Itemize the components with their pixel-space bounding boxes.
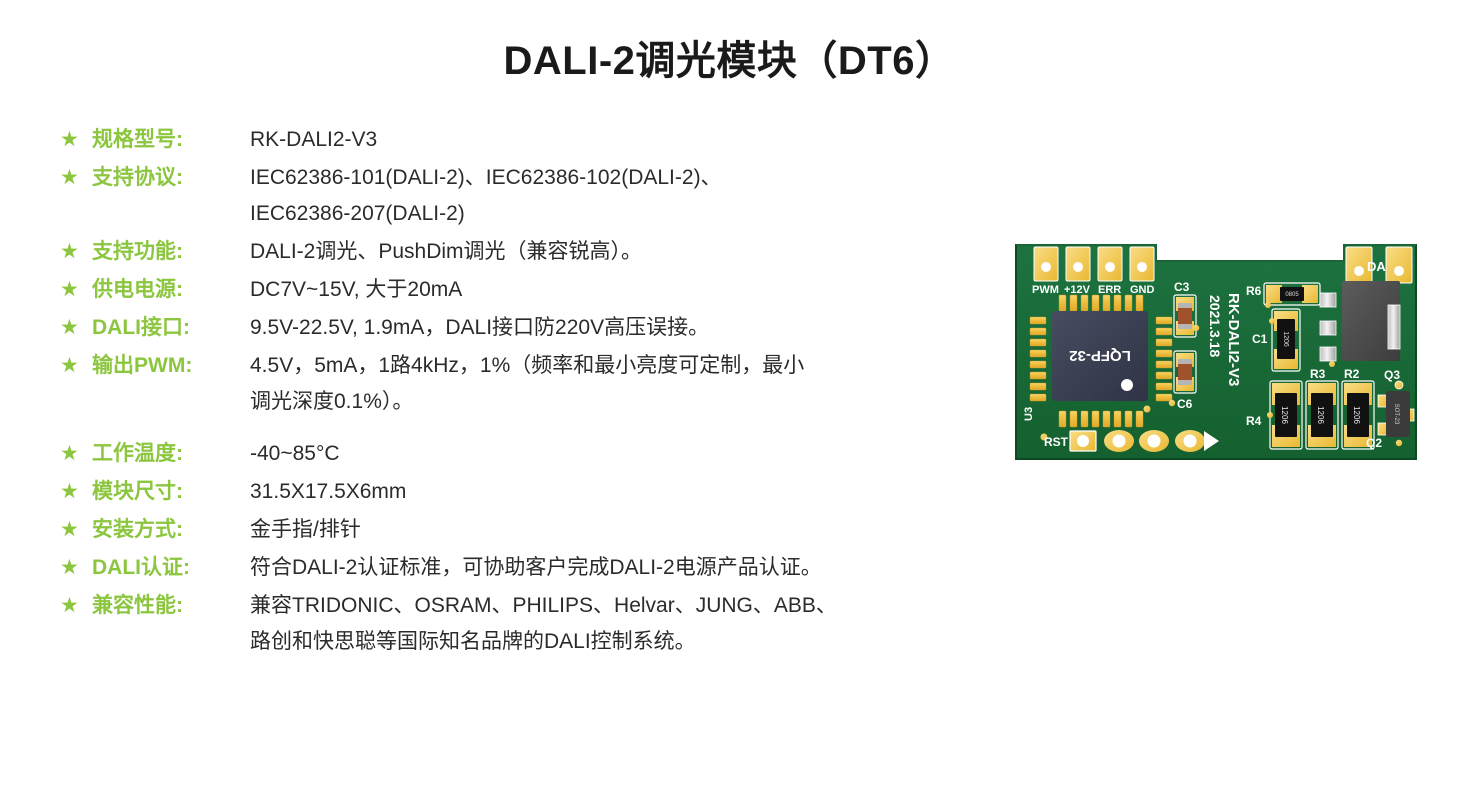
spec-value-protocol: IEC62386-101(DALI-2)、IEC62386-102(DALI-2…: [242, 160, 988, 232]
spec-row-protocol: ★ 支持协议: IEC62386-101(DALI-2)、IEC62386-10…: [58, 160, 988, 232]
pcb-res-code-r6: 0805: [1285, 292, 1299, 298]
spec-line: 31.5X17.5X6mm: [250, 474, 988, 510]
spec-label-mounting: 安装方式:: [92, 512, 242, 548]
spec-value-temperature: -40~85°C: [242, 436, 988, 472]
page-title: DALI-2调光模块（DT6）: [0, 28, 1459, 86]
spec-line: DC7V~15V, 大于20mA: [250, 272, 988, 308]
spec-row-compatibility: ★ 兼容性能: 兼容TRIDONIC、OSRAM、PHILIPS、Helvar、…: [58, 588, 988, 660]
spec-value-dali-interface: 9.5V-22.5V, 1.9mA，DALI接口防220V高压误接。: [242, 310, 988, 346]
spec-row-model: ★ 规格型号: RK-DALI2-V3: [58, 122, 988, 158]
star-icon: ★: [58, 160, 92, 196]
spec-value-power: DC7V~15V, 大于20mA: [242, 272, 988, 308]
spec-label-certification: DALI认证:: [92, 550, 242, 586]
spec-label-temperature: 工作温度:: [92, 436, 242, 472]
pcb-component-q3: [1320, 281, 1400, 367]
product-spec-page: DALI-2调光模块（DT6） ★ 规格型号: RK-DALI2-V3 ★ 支持…: [0, 0, 1459, 792]
pin-label-pwm: PWM: [1032, 284, 1059, 296]
pcb-ref-c1: C1: [1252, 332, 1268, 346]
pcb-res-code: 1206: [1352, 406, 1361, 424]
spec-label-dali-interface: DALI接口:: [92, 310, 242, 346]
pcb-silkscreen-date: 2021.3.18: [1207, 295, 1223, 357]
spec-label-power: 供电电源:: [92, 272, 242, 308]
pcb-ref-q2: Q2: [1366, 436, 1382, 450]
spec-row-pwm-output: ★ 输出PWM: 4.5V，5mA，1路4kHz，1%（频率和最小亮度可定制，最…: [58, 348, 988, 420]
specification-list: ★ 规格型号: RK-DALI2-V3 ★ 支持协议: IEC62386-101…: [58, 122, 988, 662]
pcb-res-bank: 1206 1206 1206: [1267, 381, 1374, 449]
pcb-ref-c3: C3: [1174, 280, 1190, 294]
pcb-q2-code: SOT-23: [1393, 404, 1399, 425]
spec-row-certification: ★ DALI认证: 符合DALI-2认证标准，可协助客户完成DALI-2电源产品…: [58, 550, 988, 586]
star-icon: ★: [58, 348, 92, 384]
spec-line: IEC62386-207(DALI-2): [250, 196, 988, 232]
spec-row-dali-interface: ★ DALI接口: 9.5V-22.5V, 1.9mA，DALI接口防220V高…: [58, 310, 988, 346]
pcb-res-r4: 1206: [1267, 381, 1302, 449]
spec-line: -40~85°C: [250, 436, 988, 472]
pcb-cap-code-c1: 1206: [1282, 331, 1289, 347]
spec-value-dimensions: 31.5X17.5X6mm: [242, 474, 988, 510]
star-icon: ★: [58, 436, 92, 472]
spec-line: RK-DALI2-V3: [250, 122, 988, 158]
pcb-ref-q3: Q3: [1384, 368, 1400, 382]
pcb-res-code: 1206: [1280, 406, 1289, 424]
pin-label-12v: +12V: [1064, 284, 1091, 296]
pcb-ref-u3: U3: [1023, 407, 1035, 421]
spec-line: IEC62386-101(DALI-2)、IEC62386-102(DALI-2…: [250, 160, 988, 196]
spec-label-dimensions: 模块尺寸:: [92, 474, 242, 510]
spec-value-mounting: 金手指/排针: [242, 512, 988, 548]
star-icon: ★: [58, 474, 92, 510]
star-icon: ★: [58, 272, 92, 308]
spec-label-function: 支持功能:: [92, 234, 242, 270]
star-icon: ★: [58, 234, 92, 270]
star-icon: ★: [58, 588, 92, 624]
pcb-label-da: DA: [1367, 259, 1386, 274]
spec-label-compatibility: 兼容性能:: [92, 588, 242, 624]
spec-value-certification: 符合DALI-2认证标准，可协助客户完成DALI-2电源产品认证。: [242, 550, 988, 586]
spec-label-pwm-output: 输出PWM:: [92, 348, 242, 384]
star-icon: ★: [58, 310, 92, 346]
pcb-label-rst: RST: [1044, 435, 1069, 449]
pcb-ref-c6: C6: [1177, 397, 1193, 411]
spec-value-pwm-output: 4.5V，5mA，1路4kHz，1%（频率和最小亮度可定制，最小 调光深度0.1…: [242, 348, 988, 420]
spec-value-compatibility: 兼容TRIDONIC、OSRAM、PHILIPS、Helvar、JUNG、ABB…: [242, 588, 988, 660]
spec-row-dimensions: ★ 模块尺寸: 31.5X17.5X6mm: [58, 474, 988, 510]
spec-line: 调光深度0.1%）。: [250, 384, 988, 420]
pcb-illustration: PWM +12V ERR GND DA: [1014, 233, 1418, 461]
pcb-ref-r2: R2: [1344, 367, 1360, 381]
pcb-ref-r6: R6: [1246, 284, 1262, 298]
star-icon: ★: [58, 550, 92, 586]
spec-line: 金手指/排针: [250, 512, 988, 548]
spec-line: 9.5V-22.5V, 1.9mA，DALI接口防220V高压误接。: [250, 310, 988, 346]
spec-value-function: DALI-2调光、PushDim调光（兼容锐高）。: [242, 234, 988, 270]
spec-line: 路创和快思聪等国际知名品牌的DALI控制系统。: [250, 624, 988, 660]
spec-label-model: 规格型号:: [92, 122, 242, 158]
pin-label-err: ERR: [1098, 284, 1121, 296]
pin-label-gnd: GND: [1130, 284, 1155, 296]
spec-row-function: ★ 支持功能: DALI-2调光、PushDim调光（兼容锐高）。: [58, 234, 988, 270]
spec-line: DALI-2调光、PushDim调光（兼容锐高）。: [250, 234, 988, 270]
pcb-ic-label: LQFP-32: [1069, 347, 1131, 364]
pcb-ref-r4: R4: [1246, 414, 1262, 428]
spec-row-mounting: ★ 安装方式: 金手指/排针: [58, 512, 988, 548]
spec-row-power: ★ 供电电源: DC7V~15V, 大于20mA: [58, 272, 988, 308]
spec-row-temperature: ★ 工作温度: -40~85°C: [58, 436, 988, 472]
star-icon: ★: [58, 512, 92, 548]
pcb-silkscreen-part: RK-DALI2-V3: [1225, 293, 1242, 386]
pcb-res-code: 1206: [1316, 406, 1325, 424]
pcb-ref-r3: R3: [1310, 367, 1326, 381]
spec-line: 兼容TRIDONIC、OSRAM、PHILIPS、Helvar、JUNG、ABB…: [250, 588, 988, 624]
spec-value-model: RK-DALI2-V3: [242, 122, 988, 158]
spec-line: 符合DALI-2认证标准，可协助客户完成DALI-2电源产品认证。: [250, 550, 988, 586]
spec-label-protocol: 支持协议:: [92, 160, 242, 196]
pcb-product-image: PWM +12V ERR GND DA: [1014, 233, 1418, 461]
spec-line: 4.5V，5mA，1路4kHz，1%（频率和最小亮度可定制，最小: [250, 348, 988, 384]
star-icon: ★: [58, 122, 92, 158]
